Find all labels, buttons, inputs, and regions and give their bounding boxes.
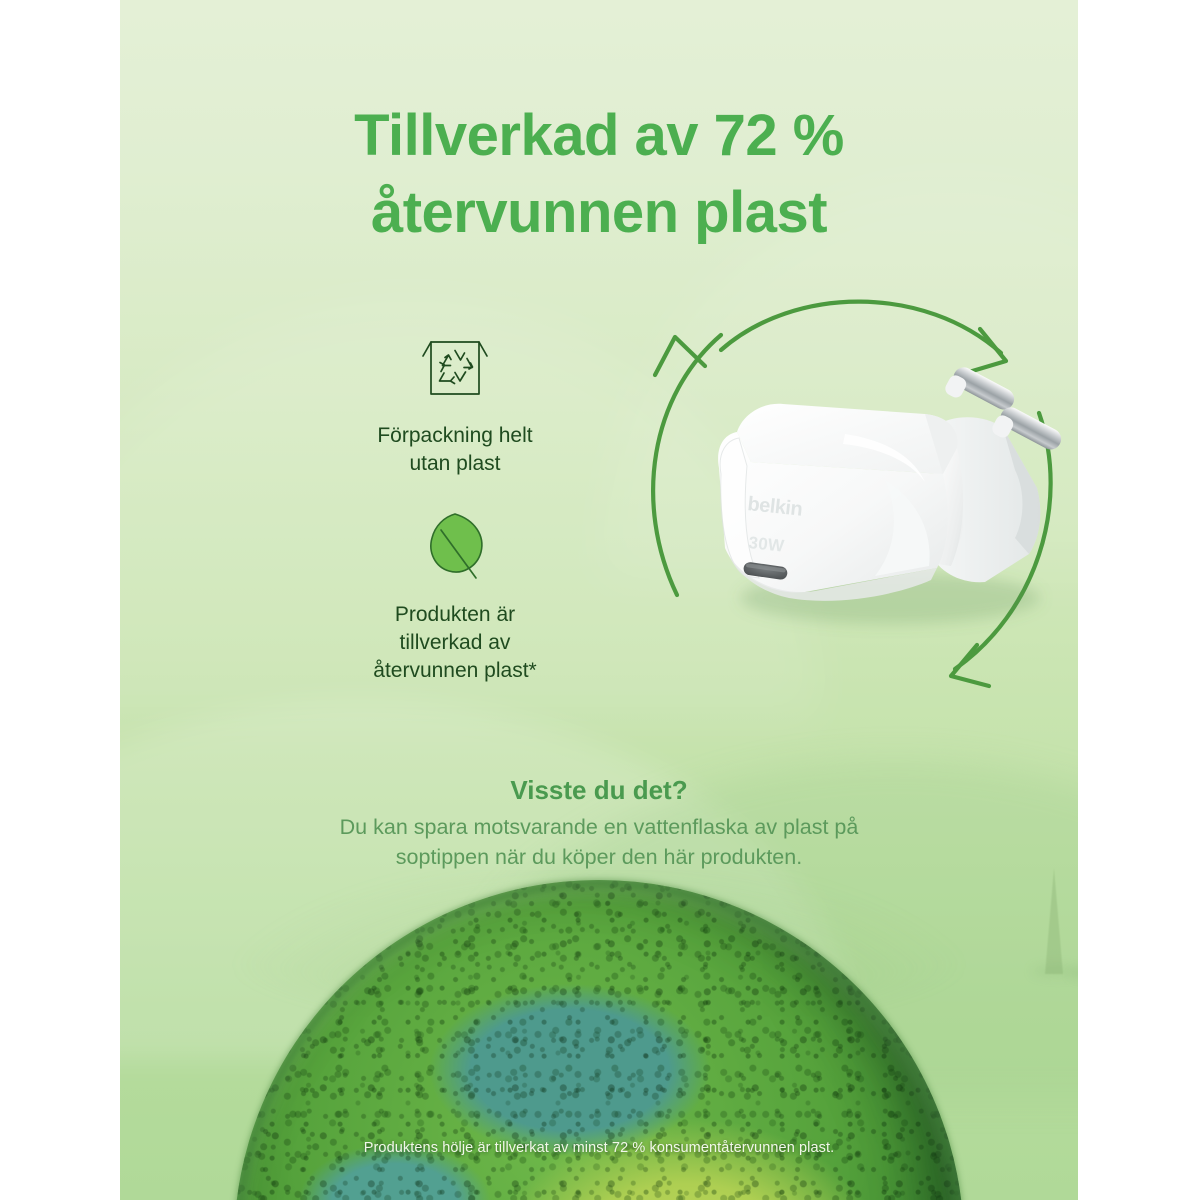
page-title-line-2: återvunnen plast — [120, 175, 1078, 252]
feature-recycled-plastic-label: Produkten är tillverkad av återvunnen pl… — [305, 601, 605, 686]
did-you-know-block: Visste du det? Du kan spara motsvarande … — [199, 775, 999, 872]
product-image-charger: belkin 30W — [685, 370, 1078, 635]
feature-plastic-free-packaging: Förpackning helt utan plast — [305, 330, 605, 479]
page-title-line-1: Tillverkad av 72 % — [120, 98, 1078, 175]
feature-recycled-plastic: Produkten är tillverkad av återvunnen pl… — [305, 509, 605, 686]
plastic-free-packaging-icon — [305, 330, 605, 408]
did-you-know-title: Visste du det? — [199, 775, 999, 806]
did-you-know-body: Du kan spara motsvarande en vattenflaska… — [199, 813, 999, 872]
wattage-label: 30W — [748, 533, 786, 556]
feature-list: Förpackning helt utan plast Produkten är… — [305, 330, 605, 716]
eco-product-poster: Tillverkad av 72 % återvunnen plast — [120, 0, 1078, 1200]
page-title: Tillverkad av 72 % återvunnen plast — [120, 98, 1078, 251]
footnote-disclaimer: Produktens hölje är tillverkat av minst … — [120, 1140, 1078, 1156]
feature-plastic-free-packaging-label: Förpackning helt utan plast — [305, 422, 605, 479]
leaf-icon — [305, 509, 605, 587]
